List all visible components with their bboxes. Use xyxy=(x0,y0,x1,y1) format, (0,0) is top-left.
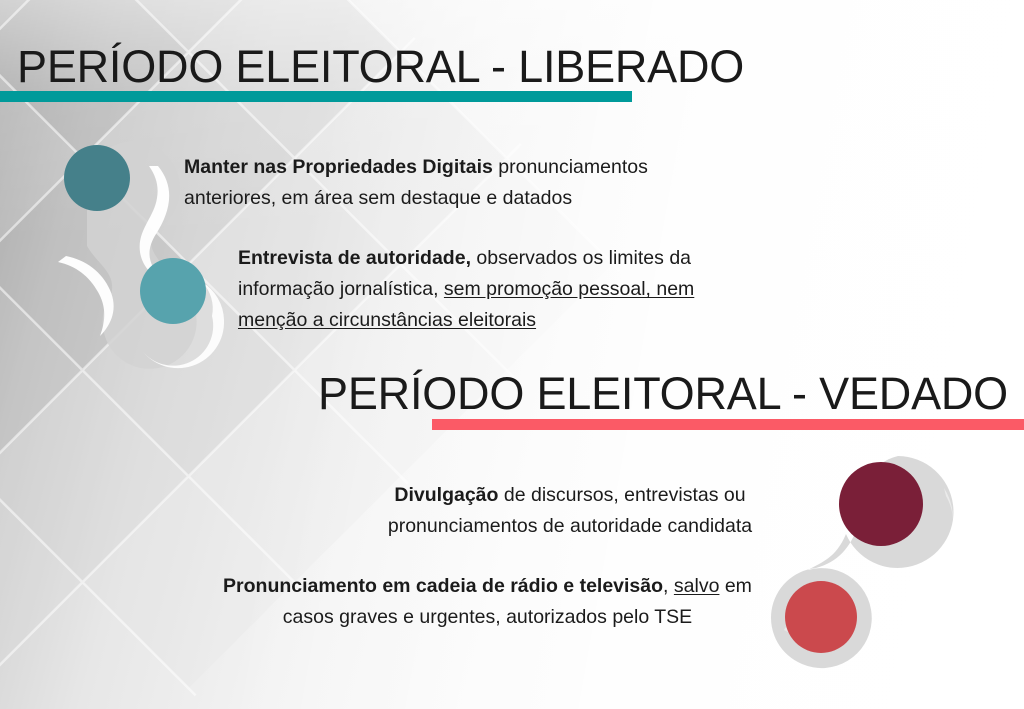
text-entrevista-bold: Entrevista de autoridade, xyxy=(238,247,471,269)
text-pronunciamento-underline: salvo xyxy=(674,575,720,597)
text-block-entrevista: Entrevista de autoridade, observados os … xyxy=(238,243,708,336)
text-block-manter: Manter nas Propriedades Digitais pronunc… xyxy=(184,152,704,214)
accent-bar-teal xyxy=(0,91,632,102)
text-block-pronunciamento: Pronunciamento em cadeia de rádio e tele… xyxy=(215,571,760,633)
bullet-circle-teal-light xyxy=(140,258,206,324)
slide-canvas: PERÍODO ELEITORAL - LIBERADO Manter nas … xyxy=(0,0,1024,709)
accent-bar-red xyxy=(432,419,1024,430)
text-pronunciamento-comma: , xyxy=(663,575,668,597)
bullet-circle-red-dark xyxy=(839,462,923,546)
text-manter-bold: Manter nas Propriedades Digitais xyxy=(184,156,493,178)
text-block-divulgacao: Divulgação de discursos, entrevistas ou … xyxy=(340,480,800,542)
section-heading-liberado: PERÍODO ELEITORAL - LIBERADO xyxy=(17,41,744,93)
section-heading-vedado: PERÍODO ELEITORAL - VEDADO xyxy=(318,368,1008,420)
bullet-circle-red-light xyxy=(785,581,857,653)
text-pronunciamento-bold: Pronunciamento em cadeia de rádio e tele… xyxy=(223,575,663,597)
text-divulgacao-bold: Divulgação xyxy=(394,484,498,506)
bullet-circle-teal-dark xyxy=(64,145,130,211)
